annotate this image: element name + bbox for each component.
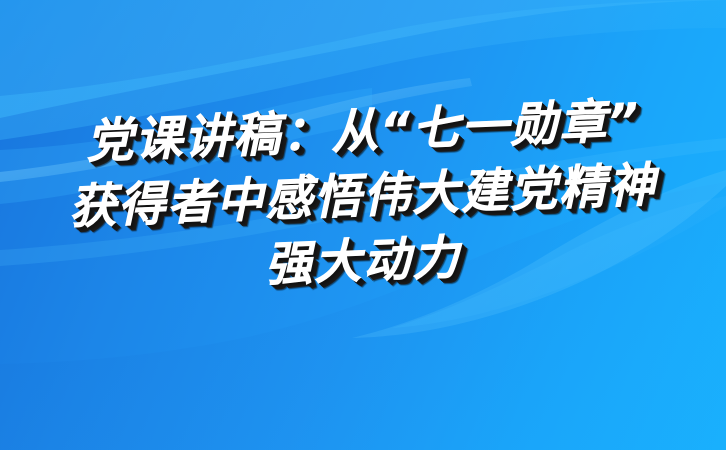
title-line-2: 获得者中感悟伟大建党精神 [68, 162, 657, 232]
title-banner: 党课讲稿：从“七一勋章” 获得者中感悟伟大建党精神 强大动力 [0, 0, 726, 450]
title-line-1: 党课讲稿：从“七一勋章” [85, 97, 641, 165]
banner-title-block: 党课讲稿：从“七一勋章” 获得者中感悟伟大建党精神 强大动力 [0, 0, 726, 450]
title-line-3: 强大动力 [264, 234, 462, 288]
